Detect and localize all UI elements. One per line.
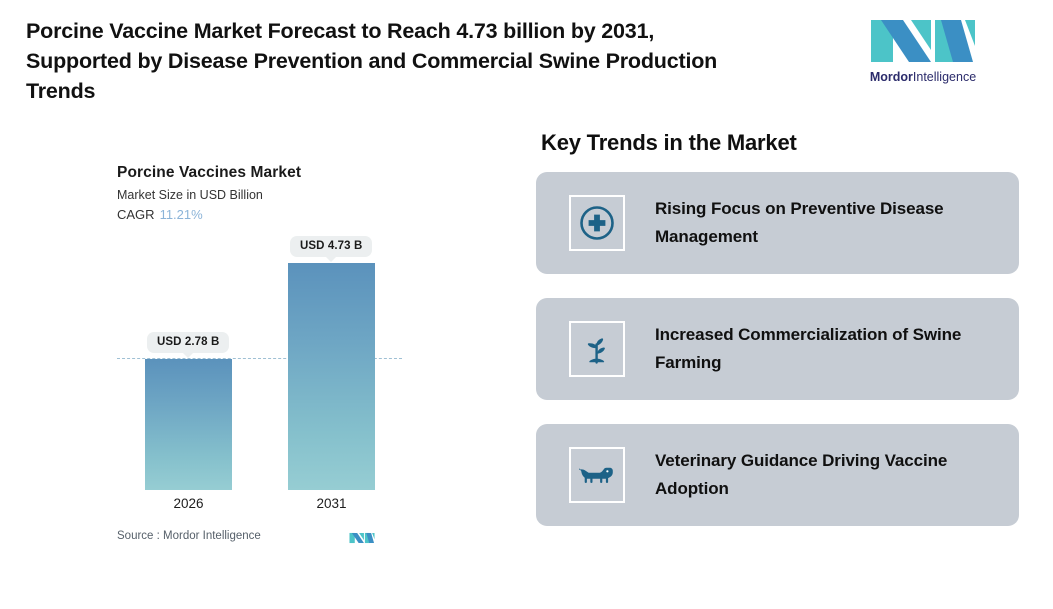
x-axis-tick-2031: 2031 [288, 496, 375, 511]
trend-label: Increased Commercialization of Swine Far… [655, 321, 999, 377]
source-label: Source : Mordor Intelligence [117, 530, 261, 542]
logo-word-intelligence: Intelligence [913, 70, 976, 84]
dog-animal-icon [569, 447, 625, 503]
x-axis-tick-2026: 2026 [145, 496, 232, 511]
logo-wordmark: MordorIntelligence [862, 69, 984, 85]
trend-card-swine-commercialization[interactable]: Increased Commercialization of Swine Far… [536, 298, 1019, 400]
bar-value-label-2026: USD 2.78 B [147, 332, 229, 353]
chart-source-row: Source : Mordor Intelligence [117, 528, 407, 550]
page-title: Porcine Vaccine Market Forecast to Reach… [26, 16, 726, 106]
logo-word-mordor: Mordor [870, 70, 913, 84]
mordor-intelligence-logo: MordorIntelligence [862, 16, 984, 92]
trend-label: Rising Focus on Preventive Disease Manag… [655, 195, 999, 251]
trend-label: Veterinary Guidance Driving Vaccine Adop… [655, 447, 999, 503]
trend-card-veterinary-guidance[interactable]: Veterinary Guidance Driving Vaccine Adop… [536, 424, 1019, 526]
market-size-chart: Porcine Vaccines Market Market Size in U… [0, 150, 520, 570]
plant-seedling-icon [569, 321, 625, 377]
trend-card-preventive-disease[interactable]: Rising Focus on Preventive Disease Manag… [536, 172, 1019, 274]
logo-mark-icon [869, 16, 977, 66]
bar-2031 [288, 263, 375, 490]
bar-2026 [145, 359, 232, 490]
medical-cross-circle-icon [569, 195, 625, 251]
source-logo-icon [349, 528, 375, 548]
key-trends-heading: Key Trends in the Market [541, 130, 1019, 156]
key-trends-panel: Key Trends in the Market Rising Focus on… [536, 130, 1019, 550]
chart-plot-area: USD 2.78 B USD 4.73 B 2026 2031 [0, 150, 520, 570]
infographic-root: Porcine Vaccine Market Forecast to Reach… [0, 0, 1053, 609]
bar-value-label-2031: USD 4.73 B [290, 236, 372, 257]
